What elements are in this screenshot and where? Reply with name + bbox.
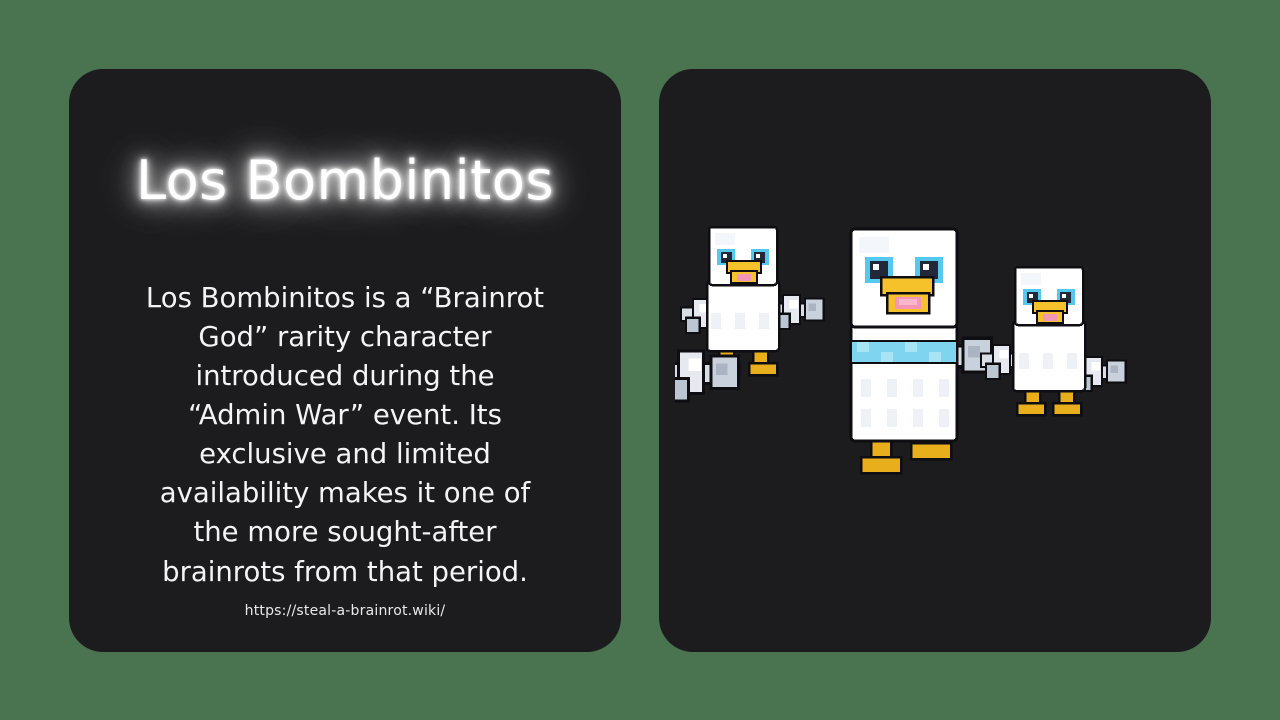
info-card: Los Bombinitos Los Bombinitos is a “Brai… (69, 69, 621, 652)
character-art-stage (675, 195, 1195, 525)
source-url-link[interactable]: https://steal-a-brainrot.wiki/ (69, 603, 621, 619)
page-title: Los Bombinitos (136, 153, 554, 210)
character-art-card (659, 69, 1211, 652)
character-description: Los Bombinitos is a “Brainrot God” rarit… (145, 279, 545, 591)
character-artwork (675, 195, 1195, 525)
duck-right (981, 267, 1126, 415)
